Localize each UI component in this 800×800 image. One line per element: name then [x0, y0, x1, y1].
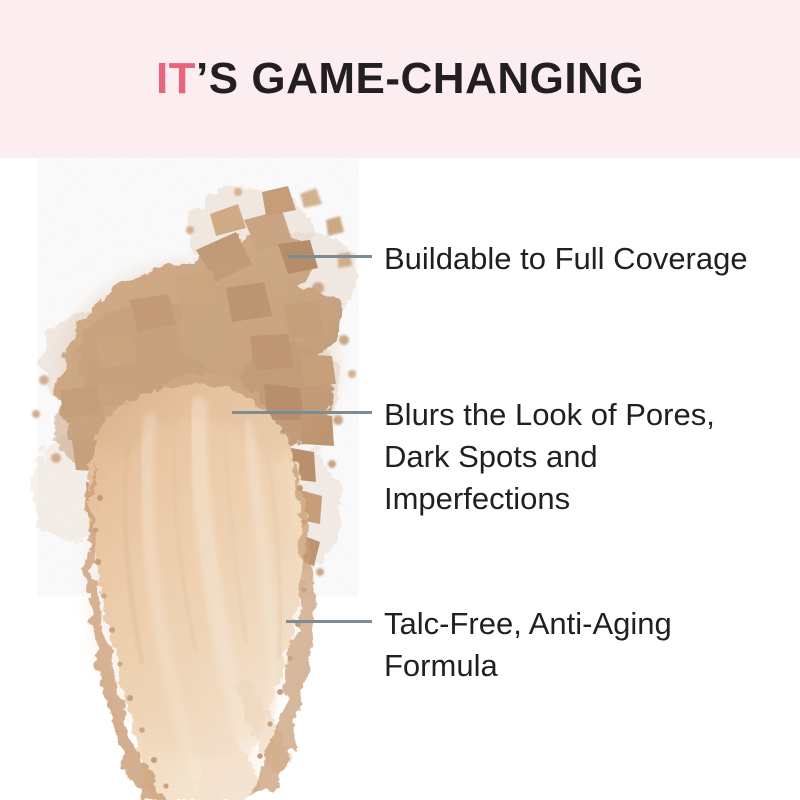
leader-line-1 [288, 255, 372, 258]
feature-label-talc-free: Talc-Free, Anti-Aging Formula [384, 603, 784, 687]
page-title: IT’S GAME-CHANGING [0, 0, 800, 158]
leader-line-2 [232, 411, 372, 414]
leader-line-3 [286, 620, 372, 623]
page-title-rest: ’S GAME-CHANGING [196, 54, 644, 104]
product-feature-callout-graphic: IT’S GAME-CHANGING [0, 0, 800, 800]
page-title-accent: IT [156, 54, 196, 104]
feature-label-buildable-coverage: Buildable to Full Coverage [384, 238, 784, 280]
feature-label-blurs-pores: Blurs the Look of Pores, Dark Spots and … [384, 394, 784, 520]
